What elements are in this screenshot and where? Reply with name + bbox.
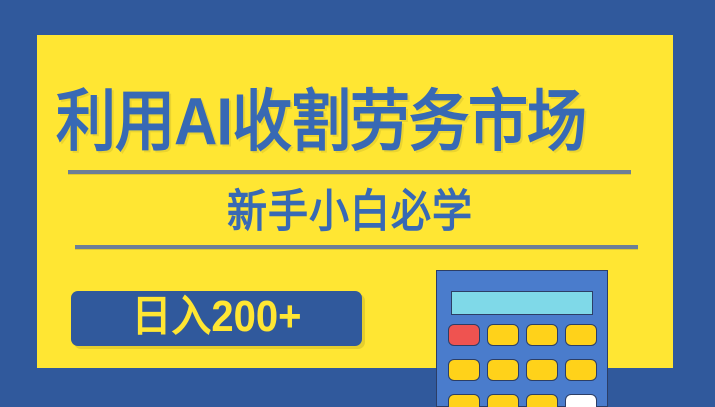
calc-key-clear — [448, 324, 480, 346]
calc-key-equals — [565, 394, 597, 407]
poster-canvas: 利用AI收割劳务市场 新手小白必学 日入200+ — [0, 0, 715, 407]
calc-key-6 — [526, 394, 558, 407]
page-subtitle: 新手小白必学 — [0, 183, 700, 241]
calc-key-5 — [487, 394, 519, 407]
calc-key-plus — [565, 359, 597, 381]
calc-key-multiply — [526, 324, 558, 346]
calc-key-4 — [448, 394, 480, 407]
status-badge-label: 日入200+ — [71, 289, 362, 348]
divider-top — [68, 170, 631, 174]
calc-key-7 — [448, 359, 480, 381]
calculator-display — [451, 291, 593, 315]
divider-bottom — [75, 245, 638, 249]
calculator-keypad — [448, 324, 598, 407]
calculator-illustration — [436, 270, 608, 407]
status-badge: 日入200+ — [71, 291, 362, 346]
page-title: 利用AI收割劳务市场 — [56, 82, 656, 163]
calc-key-minus — [565, 324, 597, 346]
calc-key-divide — [487, 324, 519, 346]
calc-key-8 — [487, 359, 519, 381]
calc-key-9 — [526, 359, 558, 381]
